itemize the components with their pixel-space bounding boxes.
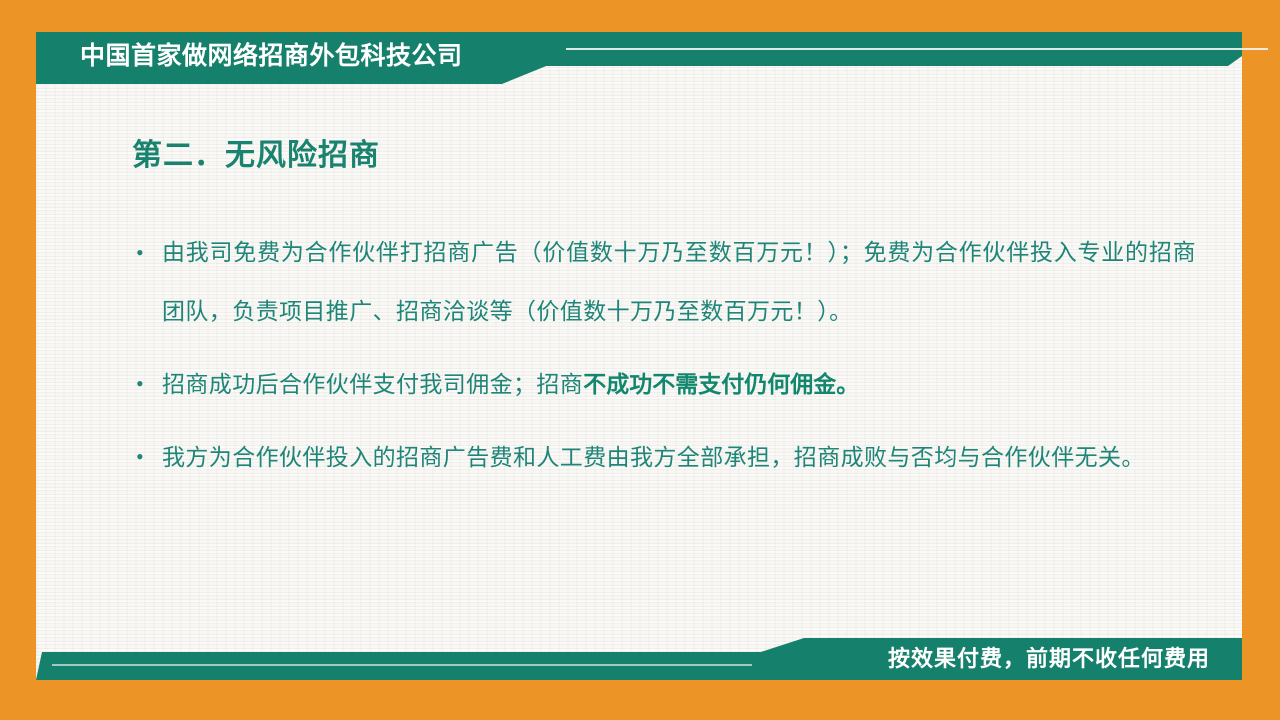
header-divider-rule — [566, 48, 1268, 50]
bullet-text: 招商成功后合作伙伴支付我司佣金；招商不成功不需支付仍何佣金。 — [162, 355, 1196, 414]
slide-footer-band: 按效果付费，前期不收任何费用 — [36, 638, 1242, 680]
header-title: 中国首家做网络招商外包科技公司 — [80, 36, 463, 76]
bullet-marker-icon: • — [136, 428, 162, 486]
footer-tagline: 按效果付费，前期不收任何费用 — [888, 642, 1210, 676]
bullet-marker-icon: • — [136, 224, 162, 282]
bullet-marker-icon: • — [136, 355, 162, 413]
list-item: • 我方为合作伙伴投入的招商广告费和人工费由我方全部承担，招商成败与否均与合作伙… — [136, 428, 1196, 487]
bullet-text-plain: 招商成功后合作伙伴支付我司佣金；招商 — [162, 372, 583, 397]
list-item: • 由我司免费为合作伙伴打招商广告（价值数十万乃至数百万元！）；免费为合作伙伴投… — [136, 224, 1196, 341]
footer-divider-rule — [52, 664, 752, 666]
presentation-slide: 中国首家做网络招商外包科技公司 第二．无风险招商 • 由我司免费为合作伙伴打招商… — [0, 0, 1280, 720]
bullet-text: 我方为合作伙伴投入的招商广告费和人工费由我方全部承担，招商成败与否均与合作伙伴无… — [162, 428, 1196, 487]
bullet-text-plain: 由我司免费为合作伙伴打招商广告（价值数十万乃至数百万元！）；免费为合作伙伴投入专… — [162, 240, 1196, 324]
slide-header-band: 中国首家做网络招商外包科技公司 — [36, 32, 1242, 84]
list-item: • 招商成功后合作伙伴支付我司佣金；招商不成功不需支付仍何佣金。 — [136, 355, 1196, 414]
bullet-text-plain: 我方为合作伙伴投入的招商广告费和人工费由我方全部承担，招商成败与否均与合作伙伴无… — [162, 445, 1145, 470]
bullet-text-emphasis: 不成功不需支付仍何佣金。 — [583, 371, 859, 397]
section-title: 第二．无风险招商 — [132, 130, 380, 174]
bullet-text: 由我司免费为合作伙伴打招商广告（价值数十万乃至数百万元！）；免费为合作伙伴投入专… — [162, 224, 1196, 341]
slide-content-area: 第二．无风险招商 • 由我司免费为合作伙伴打招商广告（价值数十万乃至数百万元！）… — [36, 84, 1242, 624]
bullet-list: • 由我司免费为合作伙伴打招商广告（价值数十万乃至数百万元！）；免费为合作伙伴投… — [136, 224, 1196, 501]
